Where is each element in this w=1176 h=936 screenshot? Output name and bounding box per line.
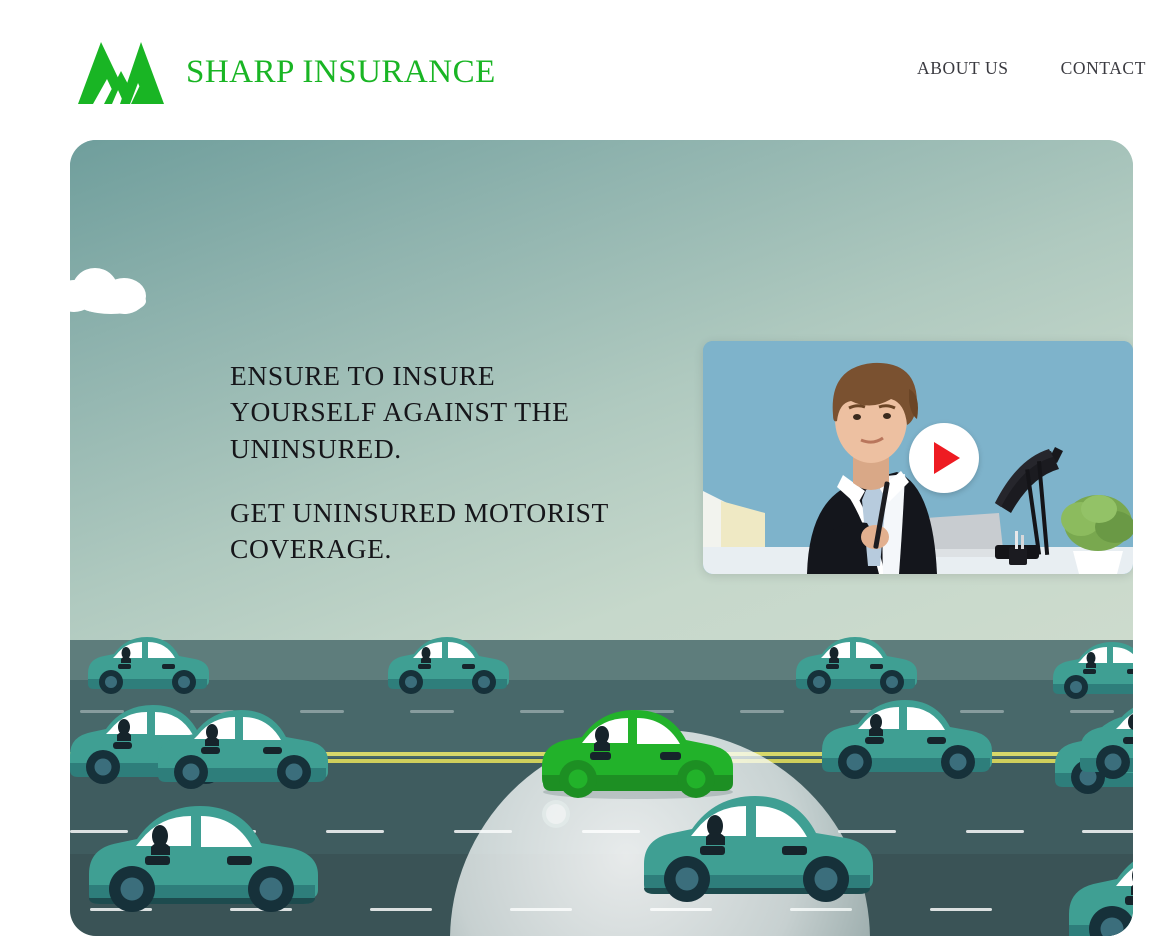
traffic-car (1070, 680, 1133, 780)
hero-banner: ENSURE TO INSURE YOURSELF AGAINST THE UN… (70, 140, 1133, 936)
video-play-button[interactable] (909, 423, 979, 493)
nav-link-contact[interactable]: CONTACT (1061, 58, 1146, 79)
hero-headline: ENSURE TO INSURE YOURSELF AGAINST THE UN… (230, 358, 630, 567)
traffic-car (1055, 820, 1133, 936)
nav-link-about-us[interactable]: ABOUT US (917, 58, 1009, 79)
headline-line-2: GET UNINSURED MOTORIST COVERAGE. (230, 495, 630, 568)
traffic-car (75, 780, 325, 915)
traffic-car (148, 690, 338, 790)
cloud-left (70, 266, 164, 314)
headline-line-1: ENSURE TO INSURE YOURSELF AGAINST THE UN… (230, 358, 630, 467)
traffic-car (380, 623, 515, 695)
play-triangle-icon (934, 442, 960, 474)
traffic-car (812, 680, 1002, 780)
landing-page: SHARP INSURANCE ABOUT US CONTACT (0, 0, 1176, 936)
road-band-far (70, 640, 1133, 680)
site-header: SHARP INSURANCE ABOUT US CONTACT (0, 0, 1176, 140)
brand-logo[interactable]: SHARP INSURANCE (74, 38, 496, 106)
main-nav: ABOUT US CONTACT (917, 58, 1146, 79)
traffic-car (630, 770, 880, 905)
hero-video-card[interactable] (703, 341, 1133, 574)
dome-knob-icon (542, 800, 570, 828)
brand-name: SHARP INSURANCE (186, 56, 496, 89)
mountain-m-logo-icon (74, 38, 168, 106)
